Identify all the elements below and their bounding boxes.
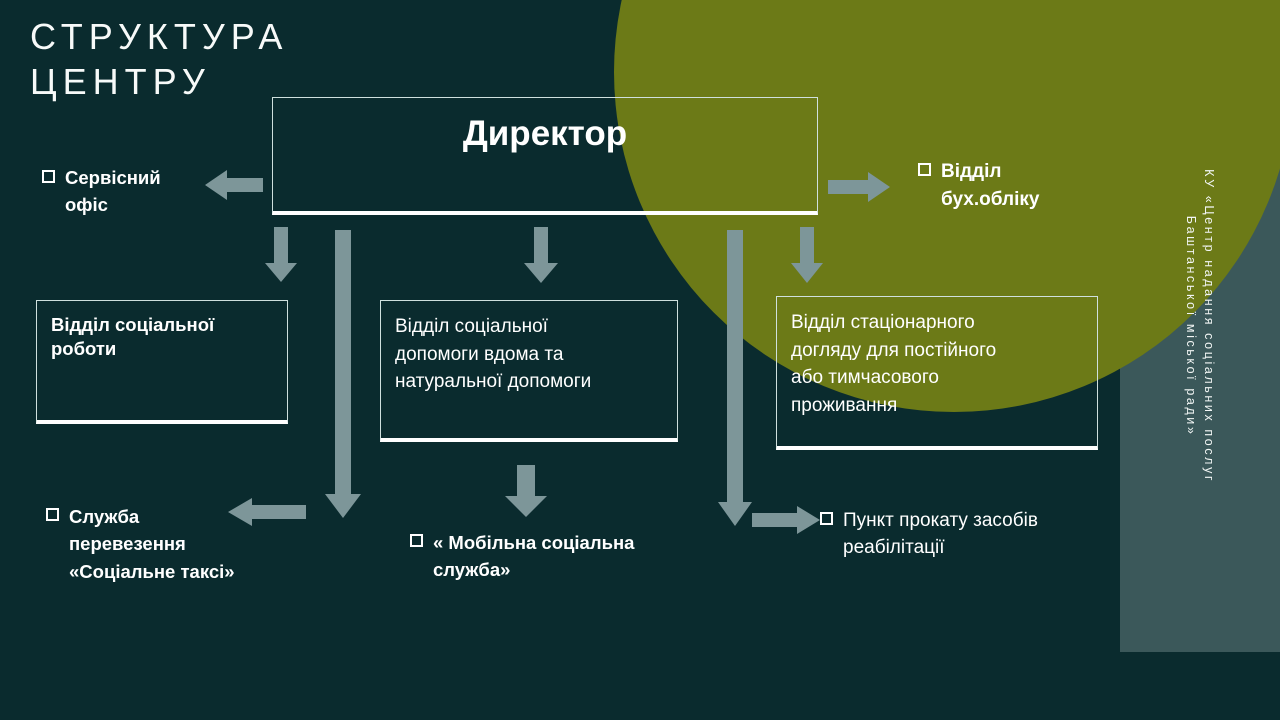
page-title-text: СТРУКТУРА ЦЕНТРУ (30, 16, 288, 102)
square-bullet-icon (42, 170, 55, 183)
square-bullet-icon (918, 163, 931, 176)
org-node-director-label: Директор (463, 114, 627, 154)
square-bullet-icon (410, 534, 423, 547)
arrow-director-to-home-help (524, 227, 558, 283)
org-node-service-office-label: Сервісний офіс (65, 165, 161, 219)
org-node-mobile-service[interactable]: « Мобільна соціальна служба» (410, 529, 720, 584)
square-bullet-icon (820, 512, 833, 525)
org-node-mobile-service-label: « Мобільна соціальна служба» (433, 529, 634, 584)
org-node-rental-point-label: Пункт прокату засобів реабілітації (843, 508, 1038, 561)
org-node-home-help-label: Відділ соціальної допомоги вдома та нату… (395, 313, 663, 396)
org-node-social-work[interactable]: Відділ соціальної роботи (36, 300, 288, 424)
org-node-accounting[interactable]: Відділ бух.обліку (918, 158, 1118, 213)
side-caption-line-2: Баштанської міської ради» (1182, 169, 1200, 483)
arrow-director-to-rental-point (718, 230, 752, 526)
page-title: СТРУКТУРА ЦЕНТРУ (30, 14, 590, 104)
slide-canvas: КУ «Центр надання соціальних послуг Башт… (0, 0, 1280, 720)
org-node-rental-point[interactable]: Пункт прокату засобів реабілітації (820, 508, 1110, 561)
arrow-director-to-social-work (265, 227, 297, 282)
org-node-director[interactable]: Директор (272, 97, 818, 215)
square-bullet-icon (46, 508, 59, 521)
org-node-service-office[interactable]: Сервісний офіс (42, 165, 252, 219)
arrow-director-to-accounting (828, 170, 890, 204)
org-node-social-taxi[interactable]: Служба перевезення «Соціальне таксі» (46, 503, 326, 585)
org-node-social-work-label: Відділ соціальної роботи (51, 313, 273, 361)
side-caption-line-1: КУ «Центр надання соціальних послуг (1200, 169, 1218, 483)
arrow-home-help-to-mobile-service (505, 465, 547, 517)
side-caption: КУ «Центр надання соціальних послуг Башт… (1120, 0, 1280, 652)
org-node-social-taxi-label: Служба перевезення «Соціальне таксі» (69, 503, 235, 585)
org-node-home-help[interactable]: Відділ соціальної допомоги вдома та нату… (380, 300, 678, 442)
org-node-stationary-care[interactable]: Відділ стаціонарного догляду для постійн… (776, 296, 1098, 450)
org-node-accounting-label: Відділ бух.обліку (941, 158, 1039, 213)
arrow-to-rental-point-right (752, 505, 820, 535)
arrow-director-to-stationary (791, 227, 823, 283)
arrow-director-to-social-taxi (325, 230, 361, 518)
org-node-stationary-care-label: Відділ стаціонарного догляду для постійн… (791, 309, 1083, 419)
